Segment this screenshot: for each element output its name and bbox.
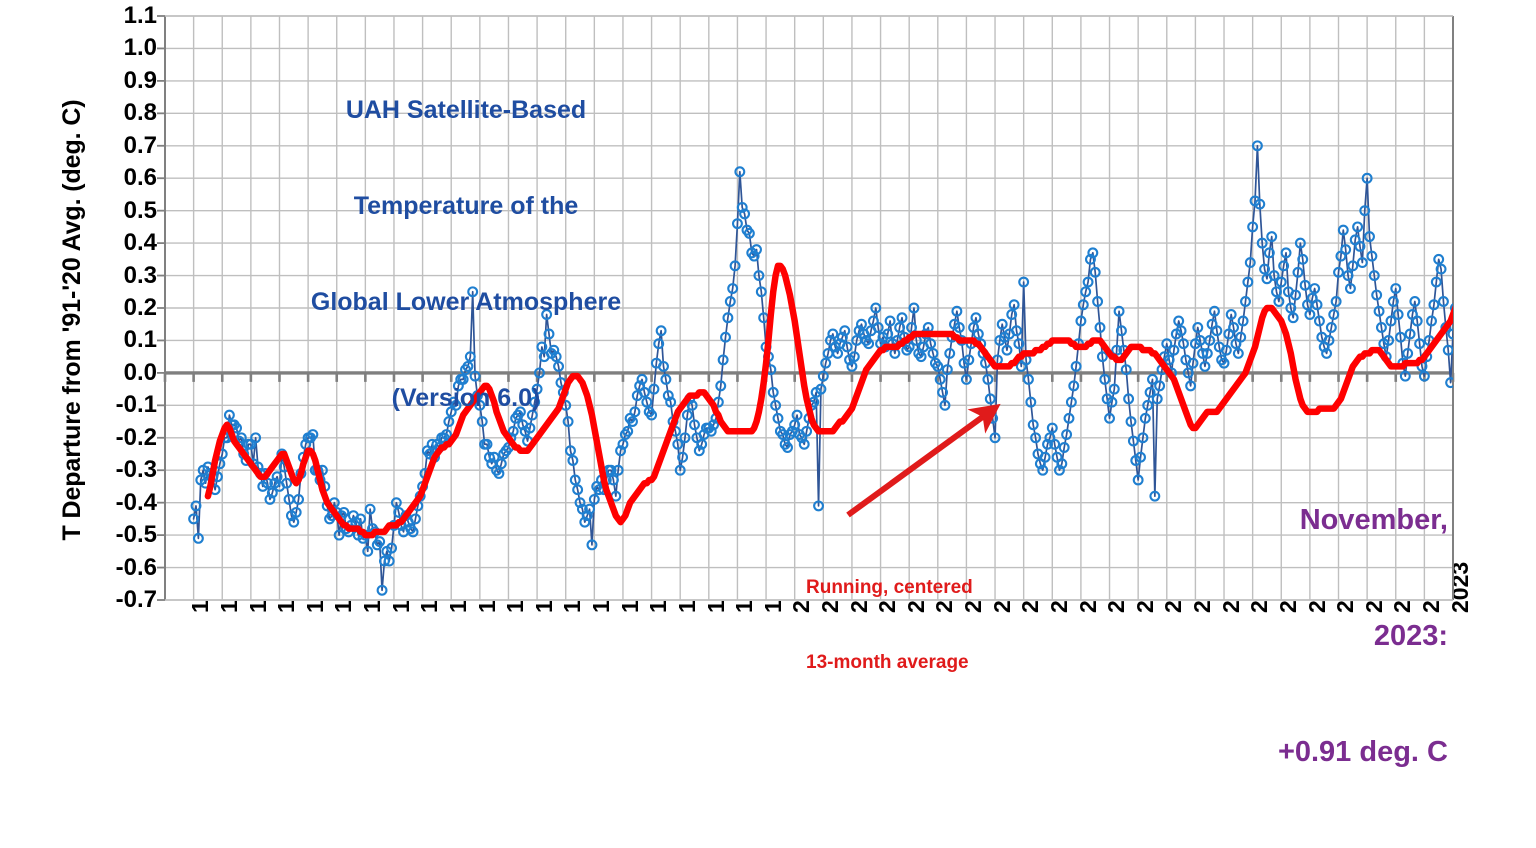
running-average-note-line-2: 13-month average bbox=[806, 650, 1086, 675]
chart-title-line-4: (Version 6.0) bbox=[276, 382, 656, 414]
current-reading-year: 2023: bbox=[1148, 617, 1448, 656]
y-tick-marks bbox=[157, 16, 165, 600]
chart-canvas: T Departure from '91-'20 Avg. (deg. C) 1… bbox=[0, 0, 1536, 691]
current-reading-month: November, bbox=[1148, 501, 1448, 540]
running-average-note-line-1: Running, centered bbox=[806, 575, 1086, 600]
chart-title-line-1: UAH Satellite-Based bbox=[276, 94, 656, 126]
current-reading-annotation: November, 2023: +0.91 deg. C bbox=[1148, 424, 1448, 848]
running-average-annotation: Running, centered 13-month average bbox=[806, 524, 1086, 726]
chart-title: UAH Satellite-Based Temperature of the G… bbox=[276, 30, 656, 478]
chart-title-line-3: Global Lower Atmosphere bbox=[276, 286, 656, 318]
chart-title-line-2: Temperature of the bbox=[276, 190, 656, 222]
current-reading-value: +0.91 deg. C bbox=[1148, 733, 1448, 772]
